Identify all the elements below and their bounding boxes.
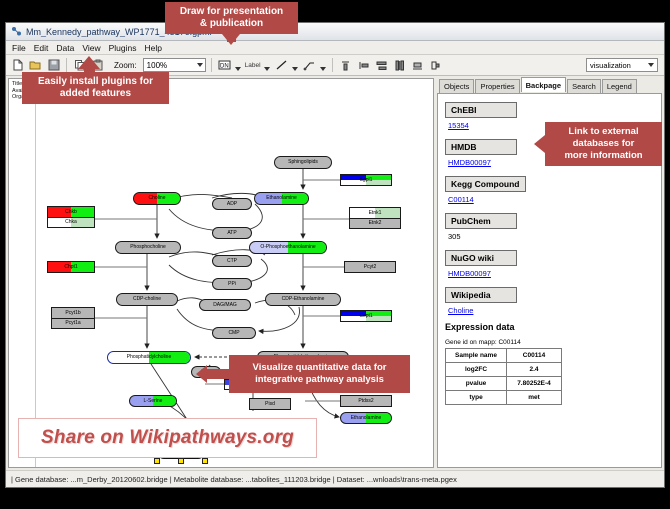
metabolite-node[interactable]: CTP	[212, 255, 252, 267]
cell-value: met	[507, 391, 562, 405]
chevron-down-icon	[197, 63, 203, 67]
gene-node[interactable]: Cept1	[340, 310, 392, 322]
cell-value: 7.80252E-4	[507, 377, 562, 391]
node-label: Pisd	[265, 402, 275, 407]
node-label: Ptdss2	[358, 399, 373, 404]
gene-node[interactable]: Chkb	[47, 206, 95, 217]
metabolite-node[interactable]: CDP-Ethanolamine	[265, 293, 341, 306]
toolbar-separator-3	[332, 58, 333, 72]
line-tool-icon[interactable]	[274, 58, 289, 73]
new-file-icon[interactable]	[10, 58, 25, 73]
metabolite-node[interactable]: DAG/MAG	[199, 299, 251, 311]
node-label: DAG/MAG	[213, 303, 237, 308]
menubar: File Edit Data View Plugins Help	[6, 41, 664, 55]
node-label: CMP	[228, 331, 239, 336]
datanode-dropdown-icon[interactable]	[235, 56, 242, 75]
label-tool-label[interactable]: Label	[245, 62, 261, 69]
menu-view[interactable]: View	[82, 43, 100, 53]
metabolite-node[interactable]: ADP	[212, 198, 252, 210]
metabolite-node[interactable]: Sphingolipids	[274, 156, 332, 169]
node-label: ATP	[227, 231, 236, 236]
menu-data[interactable]: Data	[56, 43, 74, 53]
table-row: log2FC 2.4	[446, 363, 562, 377]
db-header-pubchem: PubChem	[445, 213, 517, 229]
line-dropdown-icon[interactable]	[292, 56, 299, 75]
statusbar: | Gene database: ...m_Derby_20120602.bri…	[6, 470, 664, 487]
callout-links-arrow-tail	[543, 139, 551, 149]
node-label: Pcyt2	[364, 265, 377, 270]
metabolite-node[interactable]: CMP	[212, 327, 256, 339]
menu-edit[interactable]: Edit	[34, 43, 49, 53]
metabolite-node[interactable]: CDP-choline	[116, 293, 178, 306]
open-file-icon[interactable]	[28, 58, 43, 73]
node-label: O-Phosphoethanolamine	[260, 245, 315, 250]
gene-node[interactable]: Sgpl1	[340, 174, 392, 186]
visualization-combo[interactable]: visualization	[586, 58, 658, 72]
metabolite-node[interactable]: PPi	[212, 278, 252, 290]
metabolite-node[interactable]: L-Serine	[129, 395, 177, 407]
expression-data-title: Expression data	[445, 322, 654, 332]
node-label: Ethanolamine	[351, 416, 382, 421]
tab-backpage[interactable]: Backpage	[521, 77, 566, 92]
pathway-canvas[interactable]: Title: Availa Organi	[8, 78, 434, 468]
node-label: CDP-choline	[133, 297, 161, 302]
pathway-edges	[9, 79, 433, 468]
expression-table: Sample name C00114 log2FC 2.4 pvalue 7.8…	[445, 348, 562, 405]
zoom-value: 100%	[147, 61, 167, 70]
menu-plugins[interactable]: Plugins	[109, 43, 137, 53]
label-dropdown-icon[interactable]	[264, 56, 271, 75]
callout-links: Link to external databases for more info…	[545, 122, 662, 166]
selection-handle[interactable]	[178, 458, 184, 464]
metabolite-node[interactable]: Ethanolamine	[254, 192, 309, 205]
canvas-divider	[35, 79, 36, 467]
pathvisio-icon	[11, 26, 22, 37]
table-row: pvalue 7.80252E-4	[446, 377, 562, 391]
db-link-kegg[interactable]: C00114	[448, 195, 654, 204]
cell-key: pvalue	[446, 377, 507, 391]
align-top-icon[interactable]	[338, 58, 353, 73]
node-label: Sgpl1	[360, 178, 373, 183]
zoom-label: Zoom:	[114, 61, 137, 70]
node-label: L-Serine	[144, 399, 163, 404]
node-label: CTP	[227, 259, 237, 264]
callout-visualize-arrow-tail	[206, 369, 231, 379]
node-label: CDP-Ethanolamine	[282, 297, 325, 302]
tab-objects[interactable]: Objects	[439, 79, 474, 93]
gene-node[interactable]: Etnk1	[349, 207, 401, 218]
db-header-wikipedia: Wikipedia	[445, 287, 517, 303]
stack-icon[interactable]	[410, 58, 425, 73]
db-header-hmdb: HMDB	[445, 139, 517, 155]
distribute-horizontal-icon[interactable]	[392, 58, 407, 73]
node-label: Phosphocholine	[130, 245, 166, 250]
share-banner: Share on Wikipathways.org	[18, 418, 317, 458]
callout-plugins-arrow-tail	[84, 64, 95, 76]
save-file-icon[interactable]	[46, 58, 61, 73]
tab-legend[interactable]: Legend	[602, 79, 637, 93]
align-left-icon[interactable]	[356, 58, 371, 73]
node-label: Pcyt1b	[65, 311, 80, 316]
zoom-combo[interactable]: 100%	[143, 58, 206, 72]
callout-plugins: Easily install plugins for added feature…	[22, 72, 169, 104]
svg-text:DN: DN	[220, 64, 229, 70]
metabolite-node[interactable]: Phosphocholine	[115, 241, 181, 254]
node-label: Phosphatidylcholine	[127, 355, 171, 360]
metabolite-node[interactable]: Ethanolamine	[340, 412, 392, 424]
cell-key: Sample name	[446, 349, 507, 363]
cell-key: log2FC	[446, 363, 507, 377]
gene-node[interactable]: Pcyt2	[344, 261, 396, 273]
selection-handle[interactable]	[154, 458, 160, 464]
node-label: Etnk2	[369, 221, 382, 226]
metabolite-node[interactable]: Choline	[133, 192, 181, 205]
gene-node[interactable]: Ptdss2	[340, 395, 392, 407]
db-link-nugo[interactable]: HMDB00097	[448, 269, 654, 278]
gene-node[interactable]: Chpt1	[47, 261, 95, 273]
gene-node[interactable]: Pisd	[249, 398, 291, 410]
gene-id-line: Gene id on mapp: C00114	[445, 339, 654, 346]
metabolite-node[interactable]: O-Phosphoethanolamine	[249, 241, 327, 254]
cell-value: C00114	[507, 349, 562, 363]
metabolite-node[interactable]: ATP	[212, 227, 252, 239]
chevron-down-icon	[648, 63, 654, 67]
db-header-chebi: ChEBI	[445, 102, 517, 118]
share-banner-text: Share on Wikipathways.org	[41, 427, 294, 449]
db-header-kegg: Kegg Compound	[445, 176, 526, 192]
status-text: | Gene database: ...m_Derby_20120602.bri…	[6, 475, 457, 484]
toolbar-separator-2	[211, 58, 212, 72]
visualization-value: visualization	[590, 61, 631, 70]
group-icon[interactable]	[428, 58, 443, 73]
table-row: type met	[446, 391, 562, 405]
cell-key: type	[446, 391, 507, 405]
interaction-dropdown-icon[interactable]	[320, 56, 327, 75]
node-label: PPi	[228, 282, 236, 287]
gene-node[interactable]: Etnk2	[349, 218, 401, 229]
cell-value: 2.4	[507, 363, 562, 377]
metabolite-node[interactable]: Phosphatidylcholine	[107, 351, 191, 364]
db-link-wikipedia[interactable]: Choline	[448, 306, 654, 315]
tab-search[interactable]: Search	[567, 79, 601, 93]
node-label: Etnk1	[369, 211, 382, 216]
node-label: ADP	[227, 202, 237, 207]
toolbar-separator-1	[66, 58, 67, 72]
gene-node[interactable]: Pcyt1a	[51, 318, 95, 329]
node-label: Chkb	[65, 210, 77, 215]
node-label: Chka	[65, 220, 77, 225]
table-row: Sample name C00114	[446, 349, 562, 363]
selection-handle[interactable]	[202, 458, 208, 464]
screenshot-root: Mm_Kennedy_pathway_WP1771_45176.gpml Fil…	[0, 0, 670, 509]
node-label: Ethanolamine	[266, 196, 297, 201]
node-label: Cept1	[359, 314, 372, 319]
gene-node[interactable]: Chka	[47, 217, 95, 228]
node-label: Choline	[149, 196, 166, 201]
db-header-nugo: NuGO wiki	[445, 250, 517, 266]
datanode-tool-icon[interactable]: DN	[217, 58, 232, 73]
distribute-vertical-icon[interactable]	[374, 58, 389, 73]
callout-visualize: Visualize quantitative data for integrat…	[229, 355, 410, 393]
node-label: Pcyt1a	[65, 321, 80, 326]
gene-node[interactable]: Pcyt1b	[51, 307, 95, 318]
menu-help[interactable]: Help	[145, 43, 162, 53]
side-panel-tabs: Objects Properties Backpage Search Legen…	[437, 78, 662, 93]
tab-properties[interactable]: Properties	[475, 79, 519, 93]
menu-file[interactable]: File	[12, 43, 26, 53]
interaction-tool-icon[interactable]	[302, 58, 317, 73]
callout-draw-arrow-tail	[227, 30, 236, 42]
node-label: Chpt1	[64, 265, 77, 270]
node-label: Sphingolipids	[288, 160, 318, 165]
window-titlebar: Mm_Kennedy_pathway_WP1771_45176.gpml	[6, 23, 664, 41]
db-value-pubchem: 305	[448, 232, 654, 241]
